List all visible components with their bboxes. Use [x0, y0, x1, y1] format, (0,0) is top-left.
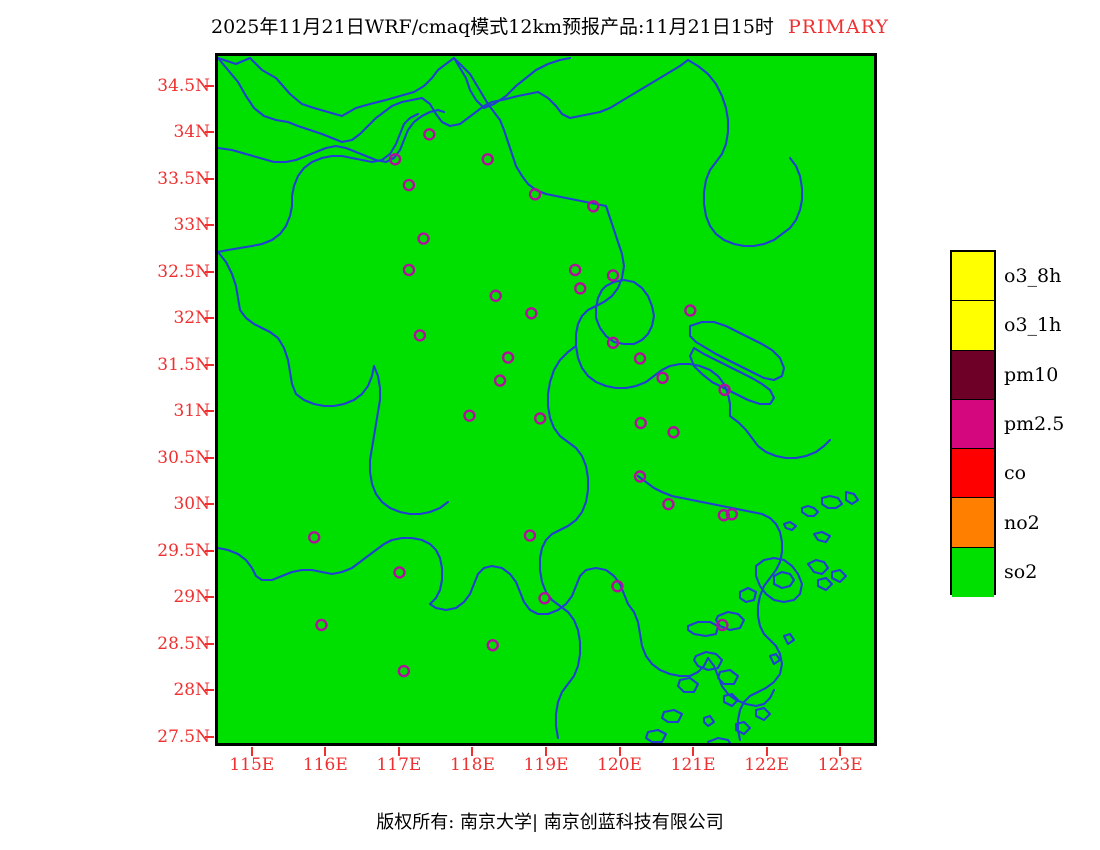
station-marker[interactable]: [503, 353, 513, 363]
y-axis-tick: [205, 178, 214, 180]
station-marker[interactable]: [415, 330, 425, 340]
y-axis-label: 28N: [138, 680, 210, 700]
y-axis-label: 31N: [138, 401, 210, 421]
y-axis-tick: [205, 224, 214, 226]
station-marker[interactable]: [530, 189, 540, 199]
station-marker[interactable]: [540, 593, 550, 603]
x-axis-label: 120E: [585, 755, 655, 775]
y-axis-tick: [205, 596, 214, 598]
x-axis-tick: [251, 747, 253, 756]
x-axis-label: 123E: [805, 755, 875, 775]
y-axis-label: 27.5N: [138, 727, 210, 747]
copyright-footer: 版权所有: 南京大学| 南京创蓝科技有限公司: [0, 808, 1100, 834]
station-marker[interactable]: [669, 427, 679, 437]
legend-swatch-no2[interactable]: no2: [952, 498, 994, 547]
page-title-text: 2025年11月21日WRF/cmaq模式12km预报产品:11月21日15时: [211, 16, 774, 38]
x-axis-label: 122E: [732, 755, 802, 775]
y-axis-label: 30.5N: [138, 448, 210, 468]
station-marker[interactable]: [488, 640, 498, 650]
station-marker[interactable]: [491, 291, 501, 301]
legend-label: o3_1h: [1004, 314, 1061, 336]
y-axis-tick: [205, 736, 214, 738]
x-axis-label: 117E: [364, 755, 434, 775]
station-marker[interactable]: [317, 620, 327, 630]
station-marker[interactable]: [570, 265, 580, 275]
x-axis-tick: [398, 747, 400, 756]
station-marker[interactable]: [535, 413, 545, 423]
legend-label: so2: [1004, 561, 1037, 583]
y-axis-tick: [205, 503, 214, 505]
y-axis-label: 29.5N: [138, 541, 210, 561]
x-axis-tick: [471, 747, 473, 756]
pollutant-legend: o3_8ho3_1hpm10pm2.5cono2so2: [950, 250, 996, 595]
station-marker[interactable]: [309, 532, 319, 542]
station-marker[interactable]: [419, 234, 429, 244]
x-axis-label: 116E: [290, 755, 360, 775]
station-marker[interactable]: [575, 283, 585, 293]
y-axis-label: 33.5N: [138, 169, 210, 189]
station-marker[interactable]: [525, 531, 535, 541]
y-axis-label: 31.5N: [138, 355, 210, 375]
station-marker[interactable]: [399, 666, 409, 676]
station-marker[interactable]: [635, 353, 645, 363]
legend-label: pm2.5: [1004, 413, 1064, 435]
y-axis-label: 34N: [138, 122, 210, 142]
province-boundaries: [218, 58, 858, 743]
primary-badge: PRIMARY: [788, 16, 889, 38]
y-axis-tick: [205, 271, 214, 273]
station-marker[interactable]: [483, 154, 493, 164]
y-axis-label: 32.5N: [138, 262, 210, 282]
x-axis-tick: [619, 747, 621, 756]
legend-label: no2: [1004, 512, 1040, 534]
legend-swatch-co[interactable]: co: [952, 449, 994, 498]
station-markers[interactable]: [309, 129, 737, 676]
x-axis-label: 119E: [511, 755, 581, 775]
page-title: 2025年11月21日WRF/cmaq模式12km预报产品:11月21日15时P…: [0, 12, 1100, 39]
station-marker[interactable]: [663, 499, 673, 509]
y-axis-tick: [205, 364, 214, 366]
y-axis-tick: [205, 550, 214, 552]
station-marker[interactable]: [526, 308, 536, 318]
x-axis-tick: [839, 747, 841, 756]
y-axis-tick: [205, 689, 214, 691]
y-axis-tick: [205, 410, 214, 412]
station-marker[interactable]: [394, 567, 404, 577]
x-axis-tick: [545, 747, 547, 756]
map-canvas[interactable]: [218, 56, 874, 743]
y-axis-tick: [205, 643, 214, 645]
station-marker[interactable]: [424, 129, 434, 139]
legend-swatch-pm10[interactable]: pm10: [952, 351, 994, 400]
station-marker[interactable]: [658, 373, 668, 383]
y-axis-tick: [205, 85, 214, 87]
station-marker[interactable]: [404, 265, 414, 275]
x-axis-tick: [766, 747, 768, 756]
y-axis-label: 32N: [138, 308, 210, 328]
legend-swatch-o3-8h[interactable]: o3_8h: [952, 252, 994, 301]
station-marker[interactable]: [608, 270, 618, 280]
y-axis-label: 34.5N: [138, 76, 210, 96]
station-marker[interactable]: [636, 418, 646, 428]
legend-label: co: [1004, 462, 1026, 484]
y-axis-label: 29N: [138, 587, 210, 607]
y-axis-label: 30N: [138, 494, 210, 514]
x-axis-label: 118E: [437, 755, 507, 775]
legend-swatch-so2[interactable]: so2: [952, 548, 994, 597]
x-axis-tick: [692, 747, 694, 756]
forecast-map[interactable]: [215, 53, 877, 746]
x-axis-label: 121E: [658, 755, 728, 775]
legend-swatch-pm2-5[interactable]: pm2.5: [952, 400, 994, 449]
x-axis-tick: [324, 747, 326, 756]
y-axis-label: 28.5N: [138, 634, 210, 654]
y-axis-tick: [205, 131, 214, 133]
legend-swatch-o3-1h[interactable]: o3_1h: [952, 301, 994, 350]
station-marker[interactable]: [685, 306, 695, 316]
y-axis-label: 33N: [138, 215, 210, 235]
station-marker[interactable]: [464, 411, 474, 421]
y-axis-tick: [205, 457, 214, 459]
legend-label: pm10: [1004, 364, 1058, 386]
legend-label: o3_8h: [1004, 265, 1061, 287]
station-marker[interactable]: [495, 376, 505, 386]
y-axis-tick: [205, 317, 214, 319]
x-axis-label: 115E: [217, 755, 287, 775]
station-marker[interactable]: [404, 180, 414, 190]
